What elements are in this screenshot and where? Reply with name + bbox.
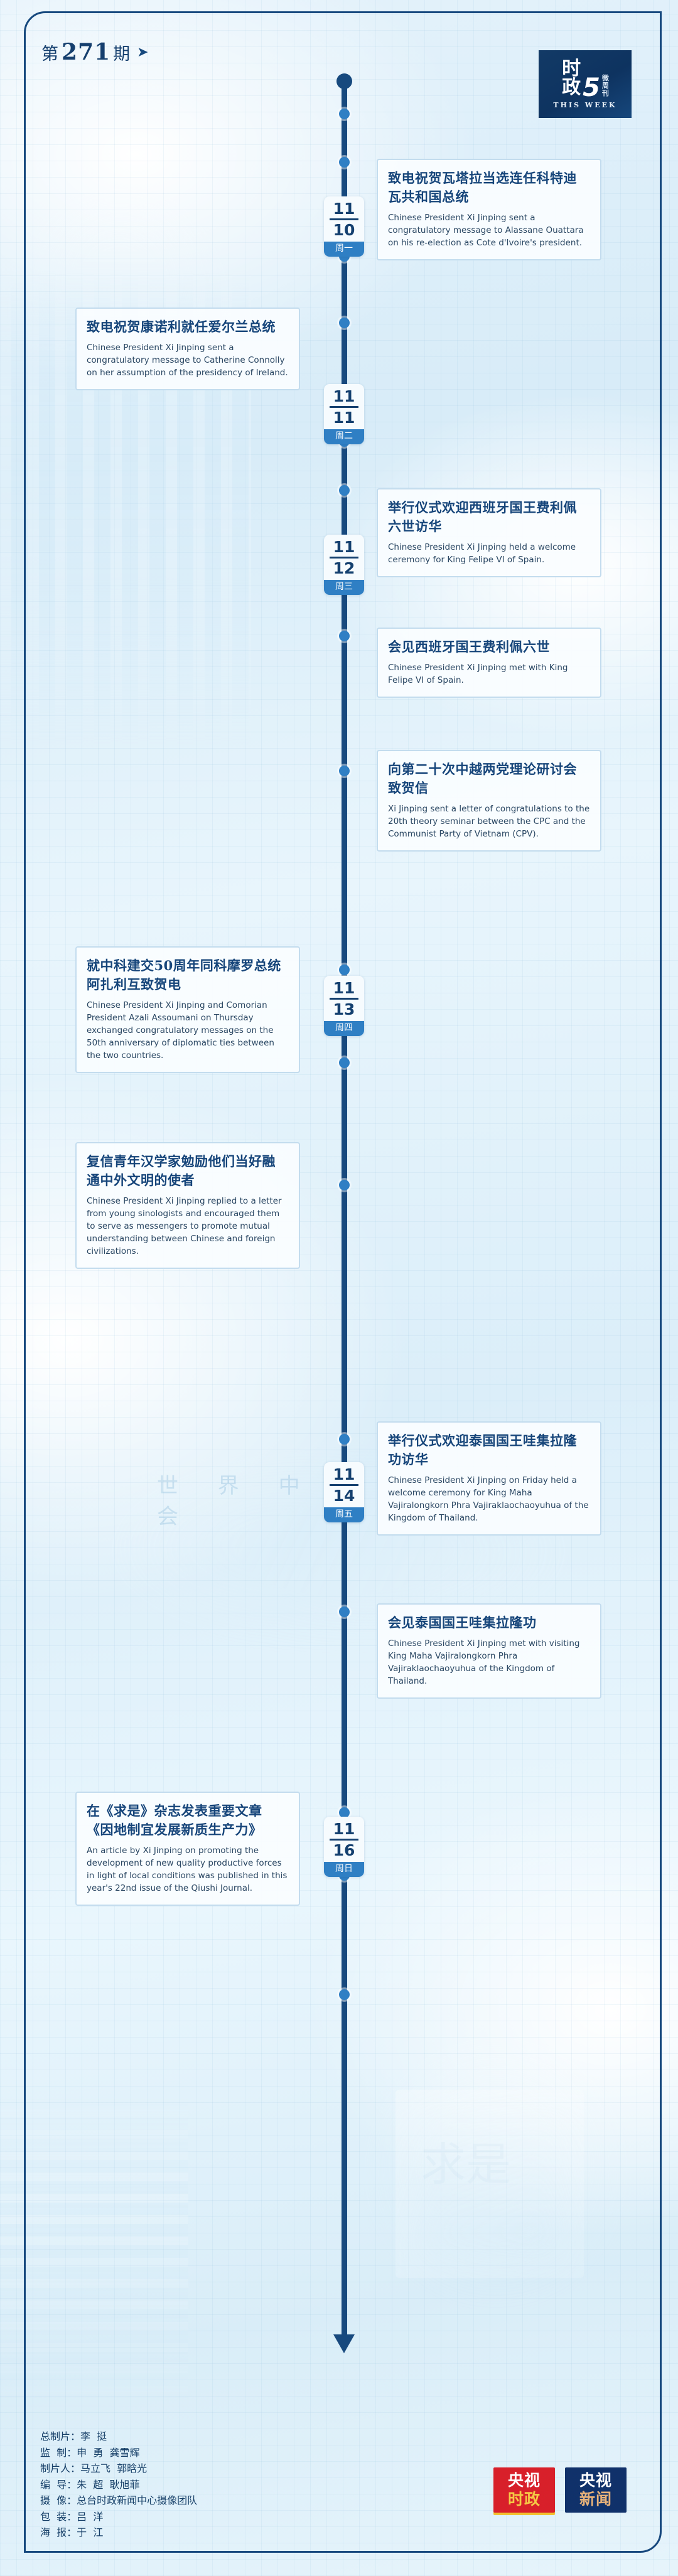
date-badge: 1114周五: [324, 1462, 364, 1522]
brand-logo-cctv-shizheng[interactable]: 央视时政: [493, 2467, 555, 2513]
date-divider: [330, 1484, 358, 1486]
brand-line-2: 新闻: [579, 2490, 612, 2509]
ghost-stairs-image: [0, 2090, 188, 2416]
timeline-node: [339, 109, 350, 119]
event-body-en: An article by Xi Jinping on promoting th…: [87, 1844, 289, 1895]
date-day: 11: [324, 409, 364, 426]
event-card[interactable]: 向第二十次中越两党理论研讨会致贺信Xi Jinping sent a lette…: [377, 750, 601, 852]
event-card[interactable]: 复信青年汉学家勉励他们当好融通中外文明的使者Chinese President …: [75, 1142, 300, 1269]
event-body-en: Chinese President Xi Jinping replied to …: [87, 1195, 289, 1258]
ghost-qiushi-plate: 求是: [395, 2090, 584, 2278]
event-title-cn: 就中科建交50周年同科摩罗总统阿扎利互致贺电: [87, 956, 289, 994]
date-month: 11: [324, 980, 364, 997]
brand-logo-cctv-xinwen[interactable]: 央视新闻: [565, 2467, 627, 2513]
event-card[interactable]: 举行仪式欢迎西班牙国王费利佩六世访华Chinese President Xi J…: [377, 488, 601, 577]
date-day: 12: [324, 560, 364, 577]
date-month: 11: [324, 1820, 364, 1837]
event-title-cn: 致电祝贺瓦塔拉当选连任科特迪瓦共和国总统: [388, 169, 590, 206]
date-divider: [330, 557, 358, 558]
date-divider: [330, 1839, 358, 1841]
logo-characters: 时 政 5 微 周 刊: [562, 60, 608, 97]
date-divider: [330, 218, 358, 220]
date-month: 11: [324, 200, 364, 217]
date-badge: 1113周四: [324, 976, 364, 1036]
brand-line-1: 央视: [508, 2471, 541, 2490]
poster-page: 求是 世 界 中 文 大 会 第 271 期 ➤ 时 政 5 微 周 刊 THI…: [0, 0, 678, 2576]
ghost-podium-image: [364, 2039, 628, 2309]
event-body-en: Chinese President Xi Jinping met with Ki…: [388, 661, 590, 687]
shizheng-weekly-logo: 时 政 5 微 周 刊 THIS WEEK: [539, 50, 632, 118]
date-weekday: 周四: [324, 1021, 364, 1036]
date-month: 11: [324, 388, 364, 405]
date-weekday: 周五: [324, 1507, 364, 1522]
timeline-node: [339, 1434, 350, 1445]
date-day: 14: [324, 1487, 364, 1504]
timeline-node: [339, 485, 350, 496]
timeline-arrow-icon: [333, 2334, 355, 2353]
event-title-cn: 举行仪式欢迎泰国国王哇集拉隆功访华: [388, 1431, 590, 1469]
brand-logo-group: 央视时政央视新闻: [493, 2467, 627, 2513]
date-weekday: 周一: [324, 242, 364, 257]
event-title-cn: 向第二十次中越两党理论研讨会致贺信: [388, 760, 590, 798]
issue-number: 271: [62, 39, 110, 65]
issue-suffix: 期: [113, 40, 131, 65]
date-weekday: 周日: [324, 1862, 364, 1877]
date-badge: 1112周三: [324, 535, 364, 595]
timeline-node: [339, 1180, 350, 1190]
chevron-right-icon: ➤: [137, 45, 149, 60]
date-day: 13: [324, 1001, 364, 1018]
event-body-en: Chinese President Xi Jinping met with vi…: [388, 1637, 590, 1687]
date-month: 11: [324, 538, 364, 555]
event-body-en: Chinese President Xi Jinping and Comoria…: [87, 999, 289, 1062]
date-weekday: 周三: [324, 580, 364, 595]
event-body-en: Chinese President Xi Jinping sent a cong…: [388, 211, 590, 249]
timeline-node: [339, 631, 350, 641]
event-body-en: Chinese President Xi Jinping held a welc…: [388, 541, 590, 566]
event-title-cn: 会见西班牙国王费利佩六世: [388, 638, 590, 656]
credit-line: 包 装：吕 洋: [40, 2509, 197, 2525]
event-card[interactable]: 会见西班牙国王费利佩六世Chinese President Xi Jinping…: [377, 628, 601, 698]
event-body-en: Chinese President Xi Jinping on Friday h…: [388, 1474, 590, 1524]
ghost-plate-text: 求是: [421, 2127, 511, 2193]
issue-prefix: 第: [41, 40, 59, 65]
logo-char-kan: 刊: [602, 90, 608, 97]
logo-subtitle-vertical: 微 周 刊: [602, 75, 608, 97]
credit-line: 海 报：于 江: [40, 2525, 197, 2541]
credit-line: 监 制：申 勇 龚雪辉: [40, 2445, 197, 2461]
credit-line: 总制片：李 挺: [40, 2429, 197, 2445]
brand-line-1: 央视: [579, 2471, 612, 2490]
event-card[interactable]: 在《求是》杂志发表重要文章《因地制宜发展新质生产力》An article by …: [75, 1792, 300, 1906]
credit-line: 制片人：马立飞 郭晗光: [40, 2461, 197, 2477]
logo-english-title: THIS WEEK: [553, 101, 616, 109]
date-divider: [330, 406, 358, 408]
credit-line: 编 导：朱 超 耿旭菲: [40, 2477, 197, 2493]
date-month: 11: [324, 1466, 364, 1483]
logo-char-shi: 时: [562, 60, 580, 78]
event-card[interactable]: 举行仪式欢迎泰国国王哇集拉隆功访华Chinese President Xi Ji…: [377, 1421, 601, 1536]
timeline-node: [339, 1057, 350, 1068]
logo-swoosh-icon: 5: [583, 78, 600, 97]
timeline-node: [339, 1606, 350, 1617]
ghost-dome-image: [6, 188, 232, 326]
event-card[interactable]: 致电祝贺康诺利就任爱尔兰总统Chinese President Xi Jinpi…: [75, 307, 300, 390]
event-title-cn: 举行仪式欢迎西班牙国王费利佩六世访华: [388, 498, 590, 536]
event-card[interactable]: 会见泰国国王哇集拉隆功Chinese President Xi Jinping …: [377, 1603, 601, 1699]
credits-block: 总制片：李 挺监 制：申 勇 龚雪辉制片人：马立飞 郭晗光编 导：朱 超 耿旭菲…: [40, 2429, 197, 2541]
timeline-node: [339, 965, 350, 975]
date-badge: 1111周二: [324, 384, 364, 444]
date-day: 10: [324, 222, 364, 238]
date-divider: [330, 998, 358, 1000]
timeline-node: [339, 157, 350, 168]
date-badge: 1110周一: [324, 196, 364, 257]
timeline-node: [339, 318, 350, 328]
issue-badge: 第 271 期 ➤: [30, 35, 158, 70]
event-card[interactable]: 致电祝贺瓦塔拉当选连任科特迪瓦共和国总统Chinese President Xi…: [377, 159, 601, 260]
event-title-cn: 会见泰国国王哇集拉隆功: [388, 1613, 590, 1632]
event-title-cn: 在《求是》杂志发表重要文章《因地制宜发展新质生产力》: [87, 1802, 289, 1839]
event-card[interactable]: 就中科建交50周年同科摩罗总统阿扎利互致贺电Chinese President …: [75, 946, 300, 1073]
timeline-node: [339, 1989, 350, 2000]
event-title-cn: 致电祝贺康诺利就任爱尔兰总统: [87, 318, 289, 336]
logo-char-zheng: 政: [562, 78, 580, 97]
date-weekday: 周二: [324, 429, 364, 444]
logo-char-zhou: 周: [602, 82, 608, 90]
event-body-en: Xi Jinping sent a letter of congratulati…: [388, 803, 590, 840]
event-body-en: Chinese President Xi Jinping sent a cong…: [87, 341, 289, 379]
logo-char-wei: 微: [602, 75, 608, 82]
timeline-node: [339, 766, 350, 776]
credit-line: 摄 像：总台时政新闻中心摄像团队: [40, 2493, 197, 2509]
brand-line-2: 时政: [508, 2490, 541, 2509]
event-title-cn: 复信青年汉学家勉励他们当好融通中外文明的使者: [87, 1152, 289, 1190]
date-day: 16: [324, 1842, 364, 1859]
date-badge: 1116周日: [324, 1817, 364, 1877]
